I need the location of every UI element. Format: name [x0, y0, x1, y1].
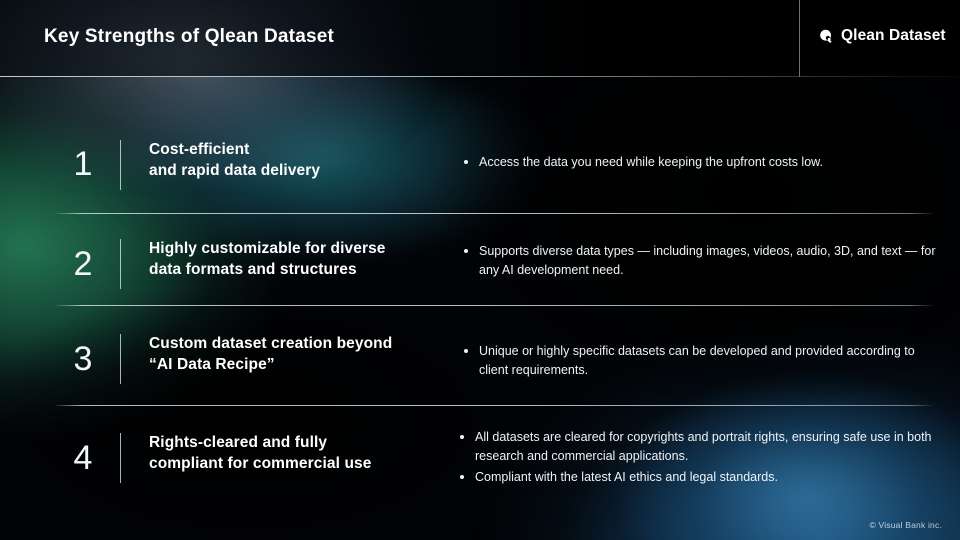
row-number: 4 — [56, 441, 110, 475]
row-bullet-list: Access the data you need while keeping t… — [461, 153, 937, 172]
row-separator — [56, 213, 935, 214]
slide-header: Key Strengths of Qlean Dataset Qlean Dat… — [0, 0, 960, 77]
brand-logo-text: Qlean Dataset — [841, 27, 946, 45]
row-accent-bar — [120, 140, 121, 190]
row-title-line1: Highly customizable for diverse — [149, 238, 386, 259]
row-separator — [56, 305, 935, 306]
header-vertical-divider — [799, 0, 800, 77]
copyright-credit: © Visual Bank inc. — [869, 520, 942, 530]
row-number: 1 — [56, 147, 110, 181]
brand-logo: Qlean Dataset — [818, 27, 946, 45]
row-title: Highly customizable for diverse data for… — [149, 238, 386, 281]
row-title-line1: Custom dataset creation beyond — [149, 333, 392, 354]
row-title-line2: and rapid data delivery — [149, 160, 320, 181]
row-bullet-list: All datasets are cleared for copyrights … — [457, 428, 939, 487]
row-title-line1: Rights-cleared and fully — [149, 432, 371, 453]
row-accent-bar — [120, 334, 121, 384]
row-description: All datasets are cleared for copyrights … — [457, 428, 939, 489]
row-description: Access the data you need while keeping t… — [461, 153, 937, 174]
row-bullet: Unique or highly specific datasets can b… — [461, 342, 937, 380]
row-title: Cost-efficient and rapid data delivery — [149, 139, 320, 182]
row-description: Supports diverse data types — including … — [461, 242, 937, 282]
row-separator — [56, 405, 935, 406]
row-accent-bar — [120, 433, 121, 483]
row-title: Rights-cleared and fully compliant for c… — [149, 432, 371, 475]
row-title-line1: Cost-efficient — [149, 139, 320, 160]
row-bullet-list: Unique or highly specific datasets can b… — [461, 342, 937, 380]
row-title-line2: “AI Data Recipe” — [149, 354, 392, 375]
row-bullet: Supports diverse data types — including … — [461, 242, 937, 280]
row-number: 3 — [56, 342, 110, 376]
row-description: Unique or highly specific datasets can b… — [461, 342, 937, 382]
row-bullet: Compliant with the latest AI ethics and … — [457, 468, 939, 487]
row-number: 2 — [56, 247, 110, 281]
row-title: Custom dataset creation beyond “AI Data … — [149, 333, 392, 376]
strengths-list: 1 Cost-efficient and rapid data delivery… — [0, 77, 960, 540]
row-bullet: Access the data you need while keeping t… — [461, 153, 937, 172]
row-title-line2: data formats and structures — [149, 259, 386, 280]
row-bullet-list: Supports diverse data types — including … — [461, 242, 937, 280]
qlean-magnifier-icon — [818, 28, 835, 45]
row-accent-bar — [120, 239, 121, 289]
row-title-line2: compliant for commercial use — [149, 453, 371, 474]
page-title: Key Strengths of Qlean Dataset — [44, 26, 334, 48]
slide-canvas: Key Strengths of Qlean Dataset Qlean Dat… — [0, 0, 960, 540]
row-bullet: All datasets are cleared for copyrights … — [457, 428, 939, 466]
